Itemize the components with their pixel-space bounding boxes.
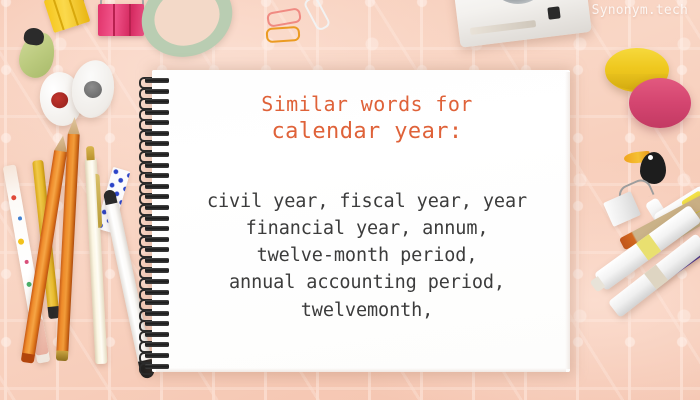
spiral-ring xyxy=(139,110,171,116)
screenshot-canvas: Similar words for calendar year: civil y… xyxy=(0,0,700,400)
camera-shutter-button xyxy=(547,6,560,19)
pen-decoration-dot xyxy=(26,281,32,287)
spiral-ring xyxy=(139,237,171,243)
note-content: Similar words for calendar year: civil y… xyxy=(176,92,558,324)
synonym-list: civil year, fiscal year, year financial … xyxy=(176,188,558,324)
spiral-ring xyxy=(139,194,171,200)
spiral-ring xyxy=(139,290,171,296)
spiral-ring xyxy=(139,353,171,359)
toucan-eye xyxy=(648,155,653,160)
note-title-line-1: Similar words for xyxy=(176,92,558,118)
spiral-ring xyxy=(139,131,171,137)
site-logo: Synonym.tech xyxy=(592,3,688,18)
pen-decoration-dot xyxy=(18,216,23,221)
notepad-page: Similar words for calendar year: civil y… xyxy=(152,70,570,372)
spiral-ring xyxy=(139,300,171,306)
spiral-ring xyxy=(139,258,171,264)
spiral-ring xyxy=(139,268,171,274)
spiral-ring xyxy=(139,364,171,370)
spiral-ring xyxy=(139,279,171,285)
spiral-ring xyxy=(139,141,171,147)
synonym-line: twelvemonth, xyxy=(176,297,558,324)
spiral-binding xyxy=(139,78,173,370)
spiral-ring xyxy=(139,163,171,169)
pen-decoration-dot xyxy=(24,260,29,265)
spiral-ring xyxy=(139,332,171,338)
pink-binder-clip xyxy=(98,4,144,36)
pink-macaron xyxy=(629,78,691,128)
spiral-ring xyxy=(139,78,171,84)
spiral-ring xyxy=(139,173,171,179)
pen-decoration-dot xyxy=(11,195,17,201)
orange-paper-clip xyxy=(266,26,301,43)
page-right-edge xyxy=(565,72,570,369)
synonym-line: twelve-month period, xyxy=(176,242,558,269)
spiral-ring xyxy=(139,184,171,190)
page-bottom-edge xyxy=(156,368,566,372)
spiral-ring xyxy=(139,247,171,253)
synonym-line: annual accounting period, xyxy=(176,269,558,296)
note-title-line-2: calendar year: xyxy=(176,118,558,146)
spiral-ring xyxy=(139,99,171,105)
spiral-ring xyxy=(139,226,171,232)
note-title: Similar words for calendar year: xyxy=(176,92,558,146)
notepad: Similar words for calendar year: civil y… xyxy=(152,70,570,372)
spiral-ring xyxy=(139,216,171,222)
synonym-line: financial year, annum, xyxy=(176,215,558,242)
spiral-ring xyxy=(139,89,171,95)
spiral-ring xyxy=(139,205,171,211)
spiral-ring xyxy=(139,342,171,348)
spiral-ring xyxy=(139,321,171,327)
spiral-ring xyxy=(139,152,171,158)
spiral-ring xyxy=(139,120,171,126)
pen-decoration-dot xyxy=(18,238,25,245)
synonym-line: civil year, fiscal year, year xyxy=(176,188,558,215)
spiral-ring xyxy=(139,311,171,317)
